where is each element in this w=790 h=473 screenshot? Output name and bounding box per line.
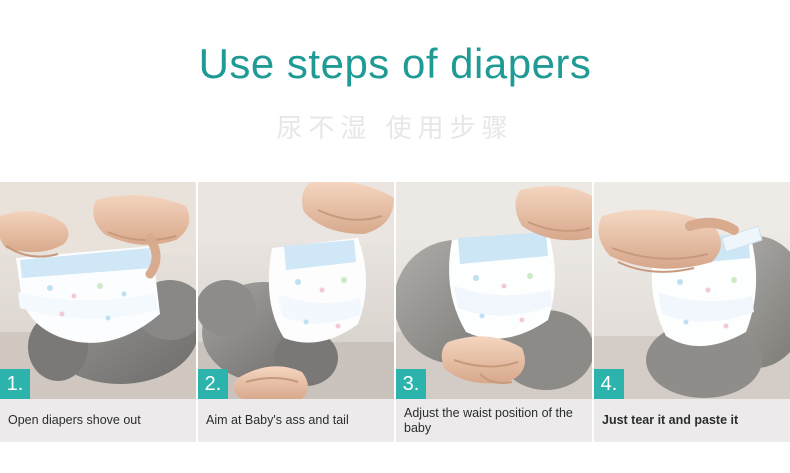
- step-number-2: 2.: [198, 369, 228, 399]
- steps-strip: 1. Open diapers shove out: [0, 182, 790, 442]
- step-caption-3: Adjust the waist position of the baby: [396, 399, 592, 442]
- step-caption-4: Just tear it and paste it: [594, 399, 790, 442]
- step-photo-2: [198, 182, 394, 399]
- step-caption-2: Aim at Baby's ass and tail: [198, 399, 394, 442]
- page-title: Use steps of diapers: [0, 38, 790, 90]
- header: Use steps of diapers 尿不湿 使用步骤: [0, 0, 790, 180]
- page-subtitle: 尿不湿 使用步骤: [0, 112, 790, 144]
- step-card-1: 1. Open diapers shove out: [0, 182, 196, 442]
- step-photo-4: [594, 182, 790, 399]
- footer-spacer: [0, 442, 790, 473]
- step-number-4: 4.: [594, 369, 624, 399]
- step-number-1: 1.: [0, 369, 30, 399]
- step-card-3: 3. Adjust the waist position of the baby: [396, 182, 592, 442]
- page-root: Use steps of diapers 尿不湿 使用步骤: [0, 0, 790, 473]
- step-number-3: 3.: [396, 369, 426, 399]
- step-photo-1: [0, 182, 196, 399]
- step-card-4: 4. Just tear it and paste it: [594, 182, 790, 442]
- step-photo-3: [396, 182, 592, 399]
- step-caption-1: Open diapers shove out: [0, 399, 196, 442]
- step-card-2: 2. Aim at Baby's ass and tail: [198, 182, 394, 442]
